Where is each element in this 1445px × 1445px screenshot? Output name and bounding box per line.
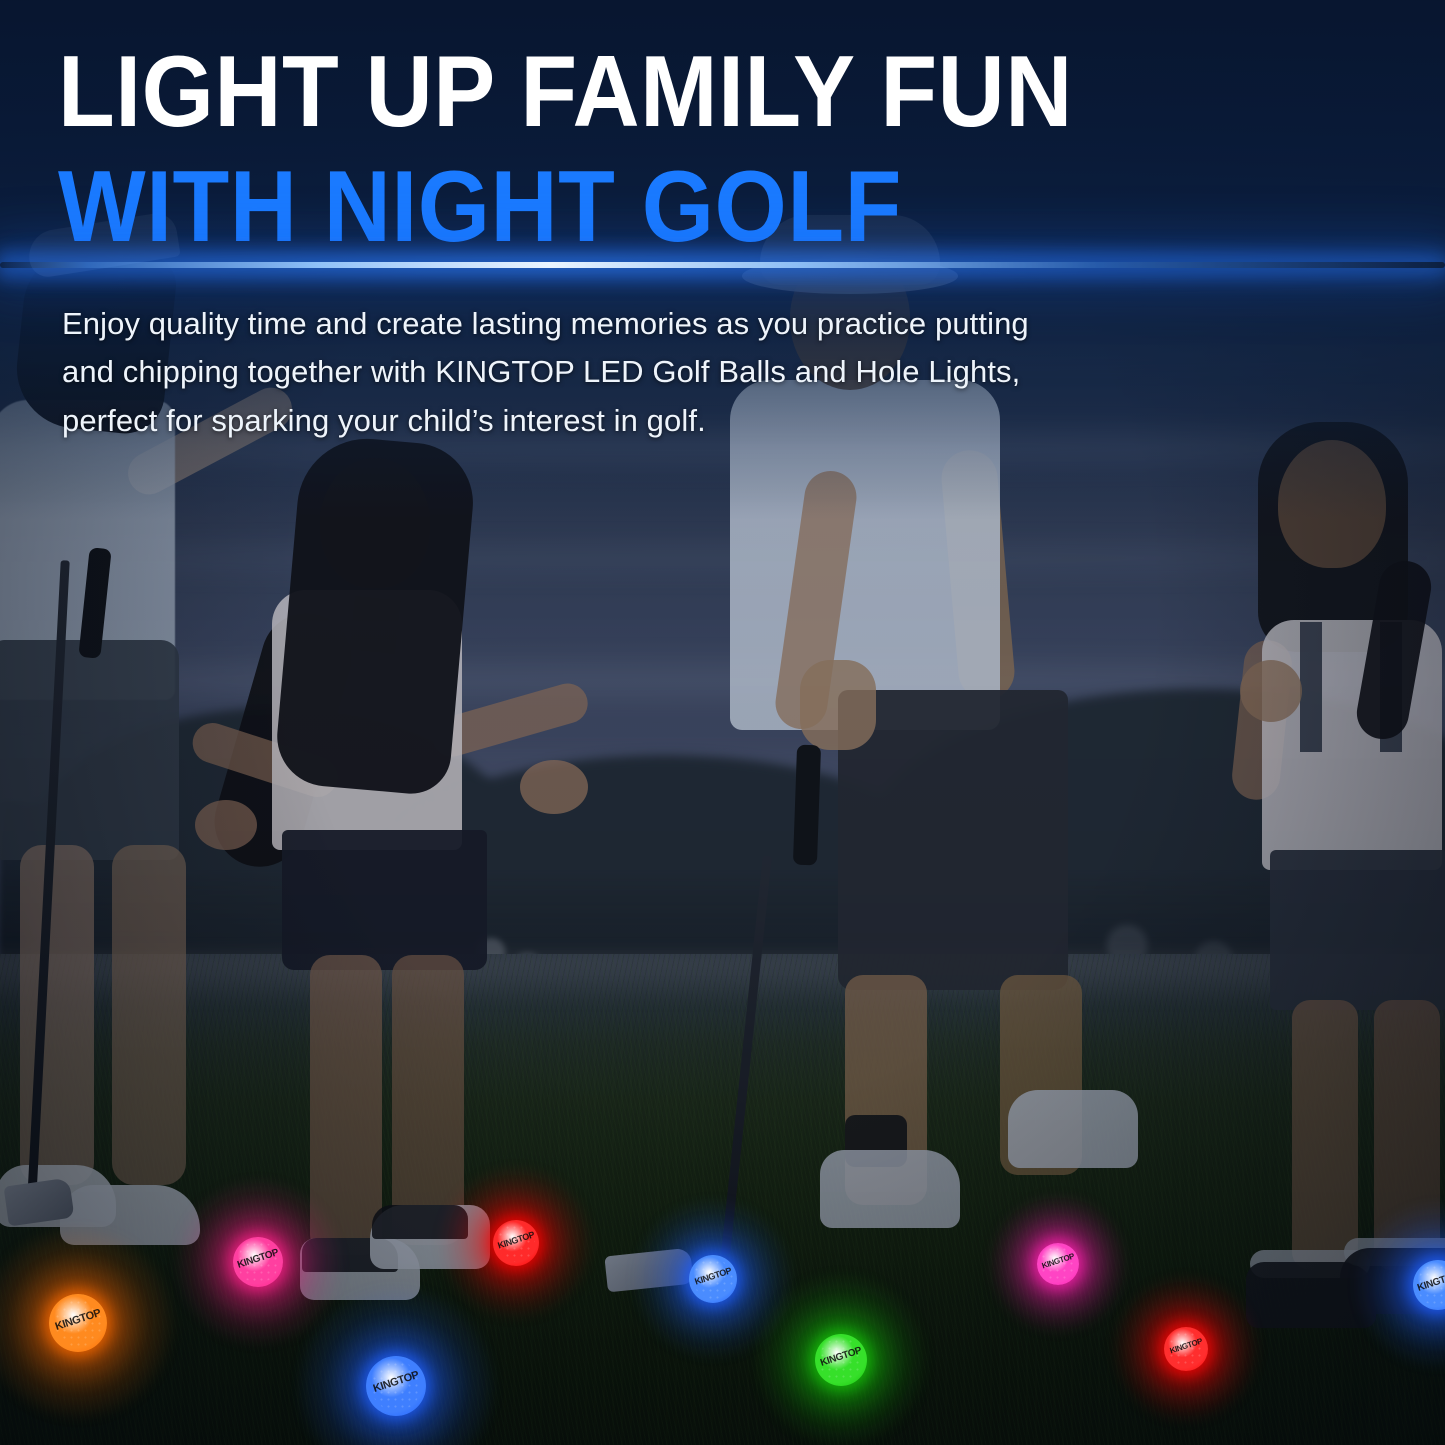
- promo-banner: KINGTOPKINGTOPKINGTOPKINGTOPKINGTOPKINGT…: [0, 0, 1445, 1445]
- magenta-ball-right: KINGTOP: [1037, 1243, 1079, 1285]
- red-ball-right: KINGTOP: [1164, 1327, 1208, 1371]
- blue-ball-lower-left: KINGTOP: [366, 1356, 426, 1416]
- light-beam-divider: [0, 262, 1445, 268]
- green-ball: KINGTOP: [815, 1334, 867, 1386]
- pink-ball: KINGTOP: [233, 1237, 283, 1287]
- headline-line-1: LIGHT UP FAMILY FUN: [58, 46, 1445, 139]
- headline-block: LIGHT UP FAMILY FUN WITH NIGHT GOLF: [58, 46, 1378, 240]
- red-ball-center: KINGTOP: [493, 1220, 539, 1266]
- body-copy-text: Enjoy quality time and create lasting me…: [62, 300, 1052, 445]
- blue-ball-center: KINGTOP: [689, 1255, 737, 1303]
- orange-ball: KINGTOP: [49, 1294, 107, 1352]
- body-copy: Enjoy quality time and create lasting me…: [62, 300, 1052, 445]
